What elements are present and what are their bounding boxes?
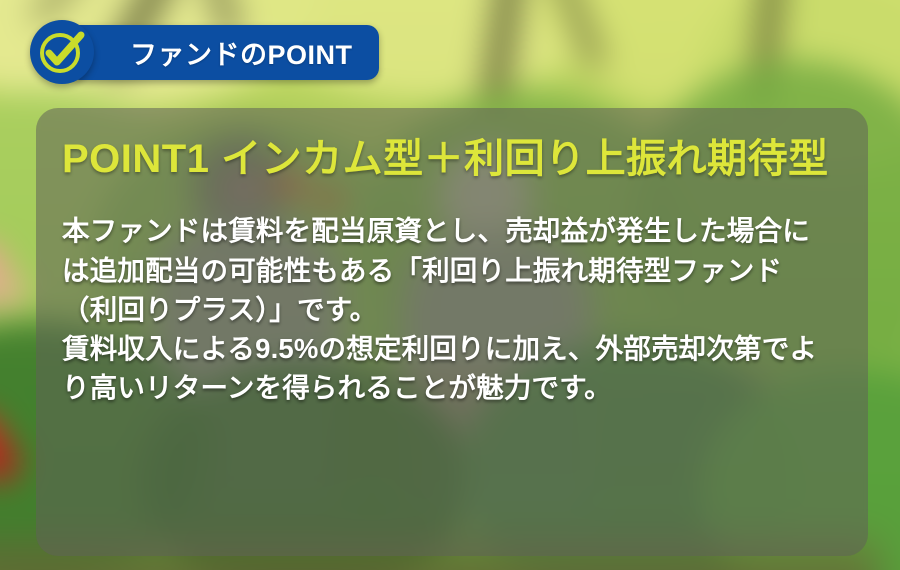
- badge-pill: ファンドのPOINT: [68, 25, 379, 80]
- point-card: POINT1 インカム型＋利回り上振れ期待型 本ファンドは賃料を配当原資とし、売…: [36, 108, 868, 556]
- card-paragraph: 本ファンドは賃料を配当原資とし、売却益が発生した場合には追加配当の可能性もある「…: [62, 211, 834, 329]
- fund-point-banner: ファンドのPOINT POINT1 インカム型＋利回り上振れ期待型 本ファンドは…: [0, 0, 900, 570]
- card-body: 本ファンドは賃料を配当原資とし、売却益が発生した場合には追加配当の可能性もある「…: [62, 211, 834, 408]
- card-paragraph: 賃料収入による9.5%の想定利回りに加え、外部売却次第でより高いリターンを得られ…: [62, 329, 834, 408]
- check-circle-icon: [30, 20, 94, 84]
- badge-label: ファンドのPOINT: [130, 33, 353, 72]
- fund-point-badge: ファンドのPOINT: [30, 22, 94, 82]
- card-title: POINT1 インカム型＋利回り上振れ期待型: [62, 134, 834, 185]
